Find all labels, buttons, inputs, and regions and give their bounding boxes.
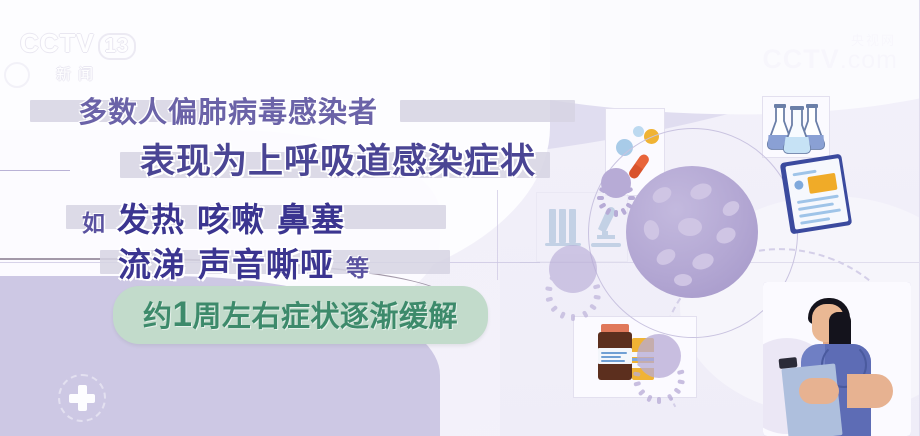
test-tube	[559, 209, 566, 243]
recovery-number: 1	[173, 295, 193, 334]
cctv-wordmark: CCTV13	[18, 28, 138, 60]
clipboard-avatar	[794, 180, 804, 190]
broadcast-graphic: CCTV13 新闻 央视网 CCTV.com 多数人偏肺病毒感染者 表现为上呼吸…	[0, 0, 920, 436]
divider-left-short	[0, 170, 70, 171]
cctv-channel-sub: 新闻	[18, 63, 138, 84]
recovery-rest: 周左右症状逐渐缓解	[192, 301, 458, 333]
clipboard-highlight-box	[807, 173, 837, 194]
virus-spot	[714, 224, 738, 246]
symptom-line-2: 流涕声音嘶哑等	[118, 238, 369, 286]
headline-line-2: 表现为上呼吸道感染症状	[140, 133, 536, 184]
virus-particle-icon	[637, 334, 681, 378]
virus-spot	[674, 274, 692, 286]
symptom-cough: 咳嗽	[197, 201, 265, 238]
virus-spot	[642, 218, 662, 241]
virus-particle-icon	[601, 168, 631, 198]
coronavirus-icon	[626, 166, 758, 298]
laboratory-flasks-icon	[762, 96, 830, 158]
cctv-com-watermark: 央视网 CCTV.com	[762, 34, 898, 73]
medical-clipboard-icon	[780, 154, 853, 235]
symptom-line-1: 如发热咳嗽鼻塞	[82, 193, 345, 241]
symptom-prefix: 如	[82, 210, 105, 236]
symptom-hoarseness: 声音嘶哑	[198, 246, 334, 283]
medical-cross-icon	[58, 374, 106, 422]
watermark-wordmark: CCTV.com	[762, 45, 898, 73]
recovery-prefix: 约	[143, 301, 173, 333]
text-shadow-bar	[400, 100, 575, 122]
symptom-runny-nose: 流涕	[118, 246, 186, 283]
virus-spot	[690, 251, 716, 273]
virus-spot	[678, 218, 702, 236]
doctor-with-clipboard-icon	[763, 282, 911, 436]
doctor-arm-right	[847, 374, 893, 408]
cctv-ring-icon	[4, 62, 30, 88]
cctv-letters: CCTV	[20, 28, 95, 58]
doctor-clipboard-clip	[779, 357, 798, 369]
flasks-svg	[763, 97, 829, 157]
virus-spot	[650, 184, 674, 206]
virus-particle-icon	[549, 245, 597, 293]
test-tube	[569, 209, 576, 243]
pill-blue-small	[633, 126, 644, 137]
symptom-etc: 等	[346, 255, 369, 281]
virus-spot	[654, 246, 678, 268]
divider-vertical	[497, 190, 498, 280]
symptom-fever: 发热	[117, 201, 185, 238]
cross-vertical	[78, 385, 87, 411]
bottle-label	[598, 348, 632, 364]
recovery-text: 约1周左右症状逐渐缓解	[143, 301, 458, 333]
watermark-domain: .com	[840, 46, 898, 74]
watermark-cctv: CCTV	[762, 44, 840, 74]
test-tube	[549, 209, 556, 243]
symptom-nasal-congestion: 鼻塞	[277, 201, 345, 238]
recovery-highlight-badge: 约1周左右症状逐渐缓解	[113, 286, 488, 344]
cctv-channel-number: 13	[98, 33, 136, 60]
cctv-channel-logo: CCTV13 新闻	[18, 28, 138, 84]
doctor-arm-left	[799, 378, 839, 404]
virus-body	[626, 166, 758, 298]
virus-spot	[720, 198, 742, 219]
virus-spot	[688, 181, 714, 203]
clipboard-page	[785, 158, 848, 230]
headline-line-1: 多数人偏肺病毒感染者	[78, 89, 378, 131]
